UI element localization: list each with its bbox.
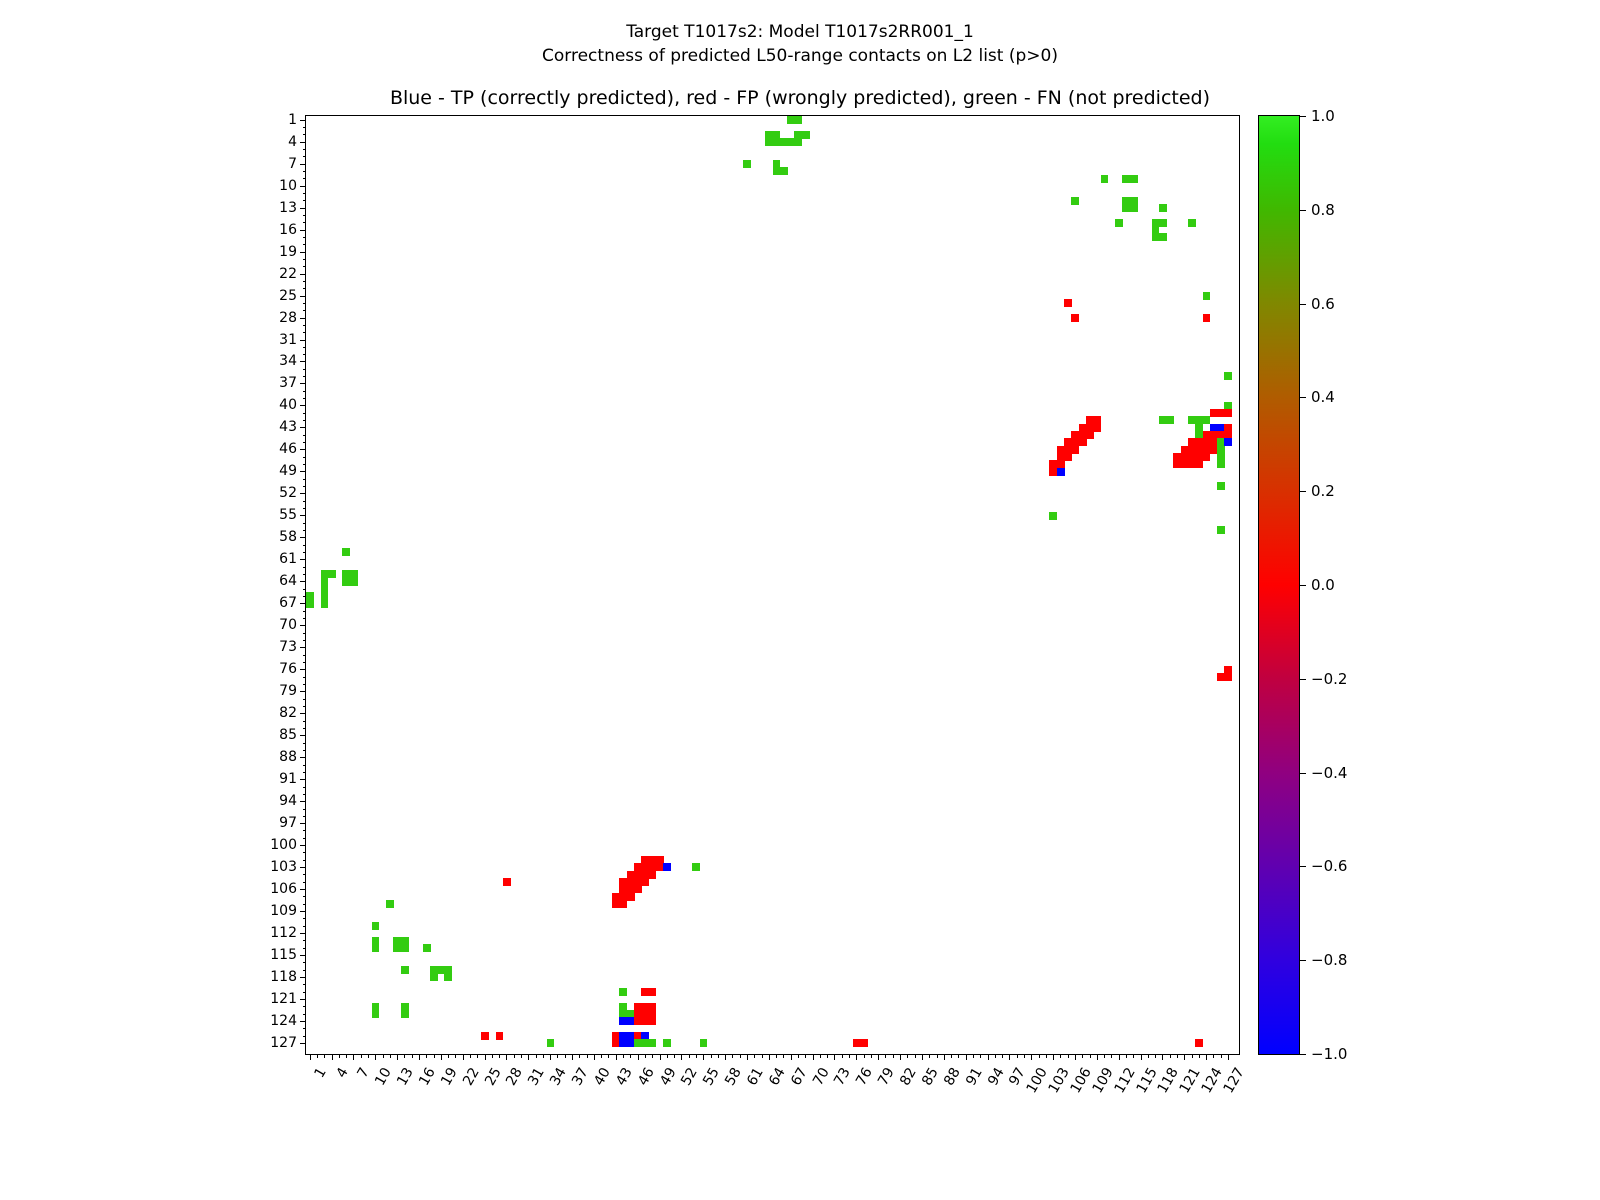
heatmap-cell-fn xyxy=(692,863,700,871)
x-tick-label: 85 xyxy=(919,1065,942,1088)
y-tick-label: 73 xyxy=(279,639,297,655)
y-tick xyxy=(303,574,307,575)
heatmap-cell-fp xyxy=(1224,673,1232,681)
x-tick xyxy=(1133,1054,1134,1058)
heatmap-cell-fn xyxy=(1130,204,1138,212)
y-tick xyxy=(303,354,307,355)
x-tick xyxy=(645,1054,646,1058)
y-tick-label: 25 xyxy=(279,288,297,304)
y-tick xyxy=(303,706,307,707)
colorbar-tick xyxy=(1300,491,1306,492)
y-tick-label: 70 xyxy=(279,617,297,633)
x-tick xyxy=(842,1054,843,1058)
x-tick xyxy=(689,1054,690,1058)
y-tick xyxy=(300,867,306,868)
y-tick xyxy=(303,677,307,678)
x-tick xyxy=(543,1054,544,1058)
y-tick xyxy=(303,442,307,443)
y-tick xyxy=(303,874,307,875)
y-tick-label: 109 xyxy=(270,903,297,919)
x-tick xyxy=(368,1054,369,1058)
colorbar-tick xyxy=(1300,304,1306,305)
y-tick xyxy=(300,581,306,582)
heatmap-cell-fn xyxy=(328,570,336,578)
x-tick xyxy=(783,1054,784,1058)
x-tick xyxy=(579,1054,580,1058)
x-tick xyxy=(492,1054,493,1058)
contact-map-plot[interactable]: 1471013161922252831343740434649525558616… xyxy=(305,115,1240,1055)
x-tick-label: 112 xyxy=(1111,1065,1138,1096)
heatmap-cell-fn xyxy=(649,1039,657,1047)
x-tick xyxy=(434,1054,435,1058)
y-tick xyxy=(303,970,307,971)
x-tick xyxy=(601,1054,602,1058)
x-tick xyxy=(718,1054,719,1058)
x-tick-label: 124 xyxy=(1199,1065,1226,1096)
y-tick xyxy=(303,618,307,619)
y-tick-label: 61 xyxy=(279,551,297,567)
x-tick-label: 52 xyxy=(678,1065,701,1088)
y-tick xyxy=(303,523,307,524)
x-tick xyxy=(740,1054,741,1058)
x-tick xyxy=(470,1054,471,1058)
x-tick xyxy=(711,1054,712,1058)
x-tick-label: 106 xyxy=(1068,1065,1095,1096)
heatmap-cell-fn xyxy=(802,131,810,139)
y-tick xyxy=(303,398,307,399)
x-tick xyxy=(1024,1054,1025,1058)
y-tick xyxy=(303,816,307,817)
heatmap-cell-fp xyxy=(1195,1039,1203,1047)
heatmap-cell-fn xyxy=(780,167,788,175)
colorbar-tick-label: −0.4 xyxy=(1311,764,1347,782)
heatmap-cell-fn xyxy=(306,600,314,608)
y-tick xyxy=(303,508,307,509)
y-tick xyxy=(300,1021,306,1022)
x-tick-label: 109 xyxy=(1089,1065,1116,1096)
y-tick xyxy=(300,933,306,934)
y-tick xyxy=(300,735,306,736)
y-tick xyxy=(303,303,307,304)
x-tick xyxy=(922,1054,923,1060)
y-tick-label: 16 xyxy=(279,222,297,238)
y-tick xyxy=(303,852,307,853)
x-tick xyxy=(587,1054,588,1058)
heatmap-cell-fp xyxy=(1195,460,1203,468)
x-tick xyxy=(426,1054,427,1058)
y-tick xyxy=(300,889,306,890)
x-tick-label: 22 xyxy=(460,1065,483,1088)
y-tick xyxy=(300,318,306,319)
x-tick-label: 64 xyxy=(766,1065,789,1088)
x-tick xyxy=(310,1054,311,1060)
y-tick-label: 124 xyxy=(270,1013,297,1029)
x-tick xyxy=(499,1054,500,1058)
y-tick xyxy=(303,215,307,216)
y-tick xyxy=(303,127,307,128)
y-tick-label: 121 xyxy=(270,991,297,1007)
x-tick xyxy=(623,1054,624,1058)
y-tick xyxy=(303,596,307,597)
y-tick xyxy=(303,640,307,641)
y-tick xyxy=(300,603,306,604)
y-tick xyxy=(303,281,307,282)
colorbar: 1.00.80.60.40.20.0−0.2−0.4−0.6−0.8−1.0 xyxy=(1258,115,1300,1055)
y-tick-label: 55 xyxy=(279,507,297,523)
x-tick xyxy=(696,1054,697,1058)
x-tick-label: 103 xyxy=(1046,1065,1073,1096)
y-tick xyxy=(300,559,306,560)
heatmap-cell-fp xyxy=(1093,424,1101,432)
heatmap-cell-fn xyxy=(1101,175,1109,183)
heatmap-cells xyxy=(306,116,1239,1054)
heatmap-cell-fp xyxy=(1079,438,1087,446)
y-tick xyxy=(300,977,306,978)
y-tick xyxy=(303,743,307,744)
x-tick xyxy=(638,1054,639,1060)
colorbar-tick xyxy=(1300,397,1306,398)
heatmap-cell-fp xyxy=(1064,299,1072,307)
heatmap-cell-fn xyxy=(350,578,358,586)
x-tick xyxy=(915,1054,916,1058)
y-tick-label: 37 xyxy=(279,375,297,391)
heatmap-cell-fn xyxy=(1188,219,1196,227)
x-tick xyxy=(514,1054,515,1058)
y-tick xyxy=(300,383,306,384)
y-tick xyxy=(303,1028,307,1029)
x-tick xyxy=(958,1054,959,1058)
heatmap-cell-fn xyxy=(321,600,329,608)
y-tick xyxy=(303,244,307,245)
colorbar-gradient xyxy=(1258,115,1300,1055)
y-tick xyxy=(303,332,307,333)
y-tick xyxy=(300,120,306,121)
y-tick xyxy=(300,999,306,1000)
heatmap-cell-fp xyxy=(503,878,511,886)
heatmap-cell-fn xyxy=(1130,175,1138,183)
legend-description: Blue - TP (correctly predicted), red - F… xyxy=(0,87,1600,109)
x-tick xyxy=(776,1054,777,1058)
y-tick xyxy=(300,449,306,450)
y-tick-label: 85 xyxy=(279,727,297,743)
y-tick xyxy=(303,545,307,546)
x-tick-label: 82 xyxy=(897,1065,920,1088)
x-tick xyxy=(667,1054,668,1058)
y-tick xyxy=(303,457,307,458)
x-tick-label: 43 xyxy=(613,1065,636,1088)
y-tick xyxy=(303,684,307,685)
x-tick xyxy=(1039,1054,1040,1058)
y-tick xyxy=(300,427,306,428)
x-tick xyxy=(1213,1054,1214,1058)
y-tick xyxy=(303,882,307,883)
x-tick-label: 34 xyxy=(547,1065,570,1088)
y-tick xyxy=(303,830,307,831)
y-tick-label: 4 xyxy=(288,134,297,150)
x-tick xyxy=(1206,1054,1207,1060)
x-tick-label: 94 xyxy=(985,1065,1008,1088)
y-tick xyxy=(303,750,307,751)
heatmap-cell-fp xyxy=(481,1032,489,1040)
x-tick xyxy=(1228,1054,1229,1060)
x-tick xyxy=(1192,1054,1193,1058)
heatmap-cell-fp xyxy=(1086,431,1094,439)
y-tick xyxy=(300,647,306,648)
y-tick xyxy=(303,486,307,487)
x-tick xyxy=(762,1054,763,1058)
heatmap-cell-tp xyxy=(1224,438,1232,446)
heatmap-cell-fp xyxy=(496,1032,504,1040)
heatmap-cell-fn xyxy=(1049,512,1057,520)
heatmap-cell-fn xyxy=(430,973,438,981)
colorbar-tick xyxy=(1300,960,1306,961)
colorbar-tick xyxy=(1300,773,1306,774)
x-tick xyxy=(1221,1054,1222,1058)
heatmap-cell-fn xyxy=(1224,372,1232,380)
x-tick xyxy=(412,1054,413,1058)
x-tick-label: 100 xyxy=(1024,1065,1051,1096)
colorbar-tick xyxy=(1300,679,1306,680)
x-tick-label: 121 xyxy=(1177,1065,1204,1096)
y-tick xyxy=(303,369,307,370)
x-tick xyxy=(485,1054,486,1060)
y-tick xyxy=(300,405,306,406)
x-tick xyxy=(820,1054,821,1058)
x-tick xyxy=(900,1054,901,1060)
x-tick-label: 37 xyxy=(569,1065,592,1088)
heatmap-cell-fn xyxy=(547,1039,555,1047)
y-tick xyxy=(300,340,306,341)
x-tick xyxy=(1017,1054,1018,1058)
x-tick xyxy=(361,1054,362,1058)
x-tick xyxy=(834,1054,835,1060)
heatmap-cell-fn xyxy=(1115,219,1123,227)
y-tick xyxy=(303,948,307,949)
x-tick-label: 61 xyxy=(744,1065,767,1088)
y-tick xyxy=(300,186,306,187)
y-tick xyxy=(303,193,307,194)
x-tick xyxy=(652,1054,653,1058)
y-tick xyxy=(303,259,307,260)
x-tick xyxy=(419,1054,420,1060)
x-tick xyxy=(885,1054,886,1058)
x-tick xyxy=(353,1054,354,1060)
x-tick xyxy=(1090,1054,1091,1058)
x-tick xyxy=(791,1054,792,1060)
heatmap-cell-fn xyxy=(794,138,802,146)
colorbar-tick-label: −0.2 xyxy=(1311,670,1347,688)
heatmap-cell-tp xyxy=(663,863,671,871)
y-tick xyxy=(303,222,307,223)
y-tick xyxy=(303,633,307,634)
y-tick-label: 49 xyxy=(279,463,297,479)
y-tick xyxy=(303,325,307,326)
y-tick-label: 67 xyxy=(279,595,297,611)
heatmap-cell-fp xyxy=(627,893,635,901)
y-tick xyxy=(303,611,307,612)
x-tick-label: 10 xyxy=(372,1065,395,1088)
colorbar-tick xyxy=(1300,866,1306,867)
y-tick-label: 7 xyxy=(288,156,297,172)
x-tick xyxy=(944,1054,945,1060)
colorbar-tick xyxy=(1300,585,1306,586)
x-tick-label: 40 xyxy=(591,1065,614,1088)
x-tick xyxy=(506,1054,507,1060)
y-tick-label: 52 xyxy=(279,485,297,501)
y-tick-label: 82 xyxy=(279,705,297,721)
figure-root: Target T1017s2: Model T1017s2RR001_1 Cor… xyxy=(0,0,1600,1200)
x-tick-label: 118 xyxy=(1155,1065,1182,1096)
x-tick xyxy=(346,1054,347,1058)
x-tick xyxy=(864,1054,865,1058)
y-tick xyxy=(300,669,306,670)
y-tick-label: 91 xyxy=(279,771,297,787)
x-tick xyxy=(528,1054,529,1060)
y-tick-label: 34 xyxy=(279,353,297,369)
x-tick xyxy=(878,1054,879,1060)
x-tick xyxy=(317,1054,318,1058)
x-tick xyxy=(550,1054,551,1060)
y-tick xyxy=(303,794,307,795)
y-tick xyxy=(300,493,306,494)
x-tick-label: 127 xyxy=(1221,1065,1248,1096)
heatmap-cell-fn xyxy=(1159,204,1167,212)
heatmap-cell-fn xyxy=(1217,460,1225,468)
x-tick-label: 16 xyxy=(416,1065,439,1088)
x-tick xyxy=(703,1054,704,1060)
y-tick xyxy=(303,171,307,172)
y-tick xyxy=(303,896,307,897)
y-tick-label: 31 xyxy=(279,332,297,348)
y-tick xyxy=(303,1014,307,1015)
colorbar-tick-label: 0.8 xyxy=(1311,201,1335,219)
colorbar-tick-label: 0.4 xyxy=(1311,388,1335,406)
x-tick xyxy=(747,1054,748,1060)
x-tick xyxy=(1053,1054,1054,1060)
y-tick xyxy=(303,413,307,414)
x-tick xyxy=(1104,1054,1105,1058)
x-tick xyxy=(536,1054,537,1058)
y-tick xyxy=(300,296,306,297)
x-tick xyxy=(951,1054,952,1058)
y-tick-label: 76 xyxy=(279,661,297,677)
heatmap-cell-fp xyxy=(619,900,627,908)
x-tick xyxy=(660,1054,661,1060)
x-tick xyxy=(893,1054,894,1058)
x-tick-label: 55 xyxy=(700,1065,723,1088)
y-tick xyxy=(300,845,306,846)
y-tick xyxy=(300,361,306,362)
colorbar-tick-label: −0.6 xyxy=(1311,857,1347,875)
heatmap-cell-fn xyxy=(1071,197,1079,205)
y-tick xyxy=(303,178,307,179)
y-tick xyxy=(303,530,307,531)
y-tick-label: 28 xyxy=(279,310,297,326)
y-tick xyxy=(300,274,306,275)
x-tick xyxy=(1141,1054,1142,1060)
y-tick xyxy=(300,230,306,231)
y-tick xyxy=(303,904,307,905)
y-tick xyxy=(303,787,307,788)
y-tick xyxy=(303,237,307,238)
x-tick xyxy=(339,1054,340,1058)
y-tick-label: 58 xyxy=(279,529,297,545)
heatmap-cell-fp xyxy=(1064,453,1072,461)
y-tick xyxy=(303,809,307,810)
x-tick xyxy=(995,1054,996,1058)
x-tick xyxy=(732,1054,733,1058)
y-tick xyxy=(303,984,307,985)
y-tick-label: 40 xyxy=(279,397,297,413)
heatmap-cell-fp xyxy=(1224,409,1232,417)
y-tick xyxy=(303,347,307,348)
heatmap-cell-fn xyxy=(663,1039,671,1047)
heatmap-cell-fp xyxy=(634,885,642,893)
x-tick xyxy=(1162,1054,1163,1060)
y-tick-label: 19 xyxy=(279,244,297,260)
heatmap-cell-fp xyxy=(641,878,649,886)
x-tick xyxy=(455,1054,456,1058)
y-tick xyxy=(303,420,307,421)
y-tick xyxy=(300,537,306,538)
title-line-2: Correctness of predicted L50-range conta… xyxy=(0,44,1600,68)
y-tick xyxy=(303,1006,307,1007)
x-tick xyxy=(1009,1054,1010,1060)
colorbar-tick-label: −1.0 xyxy=(1311,1045,1347,1063)
y-tick xyxy=(300,801,306,802)
x-tick xyxy=(856,1054,857,1060)
y-tick-label: 106 xyxy=(270,881,297,897)
heatmap-cell-fn xyxy=(386,900,394,908)
x-tick xyxy=(630,1054,631,1058)
y-tick xyxy=(303,149,307,150)
y-tick xyxy=(300,1043,306,1044)
y-tick-label: 94 xyxy=(279,793,297,809)
x-tick-label: 7 xyxy=(355,1065,373,1081)
y-tick-label: 115 xyxy=(270,947,297,963)
x-tick xyxy=(1184,1054,1185,1060)
x-tick xyxy=(404,1054,405,1058)
x-tick xyxy=(390,1054,391,1058)
y-tick xyxy=(303,699,307,700)
x-tick xyxy=(805,1054,806,1058)
title-line-1: Target T1017s2: Model T1017s2RR001_1 xyxy=(0,20,1600,44)
x-tick xyxy=(375,1054,376,1060)
x-tick-label: 31 xyxy=(525,1065,548,1088)
x-tick xyxy=(929,1054,930,1058)
heatmap-cell-fp xyxy=(860,1039,868,1047)
x-tick xyxy=(681,1054,682,1060)
y-tick xyxy=(303,728,307,729)
y-tick xyxy=(303,288,307,289)
heatmap-cell-fn xyxy=(444,973,452,981)
heatmap-cell-fn xyxy=(372,1010,380,1018)
y-tick xyxy=(303,1036,307,1037)
y-tick xyxy=(303,567,307,568)
heatmap-cell-tp xyxy=(1057,468,1065,476)
colorbar-tick-label: 0.6 xyxy=(1311,295,1335,313)
x-tick xyxy=(1097,1054,1098,1060)
figure-title: Target T1017s2: Model T1017s2RR001_1 Cor… xyxy=(0,20,1600,68)
x-tick xyxy=(1111,1054,1112,1058)
y-tick xyxy=(303,435,307,436)
heatmap-cell-fn xyxy=(1217,482,1225,490)
x-tick-label: 79 xyxy=(875,1065,898,1088)
y-tick xyxy=(300,164,306,165)
y-tick xyxy=(300,779,306,780)
x-tick-label: 88 xyxy=(941,1065,964,1088)
x-tick-label: 67 xyxy=(788,1065,811,1088)
